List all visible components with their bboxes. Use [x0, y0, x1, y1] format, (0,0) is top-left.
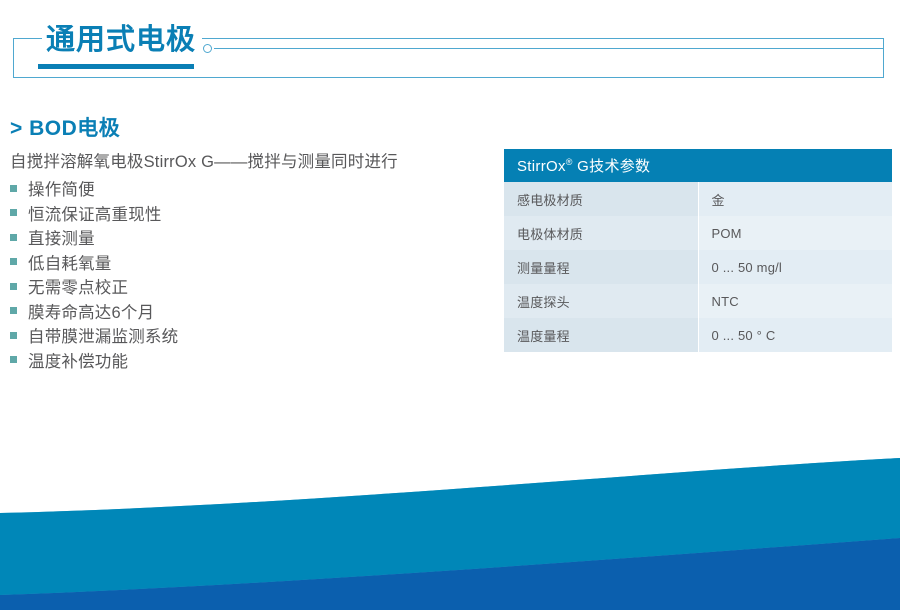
- circle-node-icon: [203, 44, 212, 53]
- table-header-row: StirrOx® G技术参数: [504, 149, 892, 182]
- wave-decoration: [0, 410, 900, 610]
- list-item: 直接测量: [10, 225, 178, 250]
- table-row: 温度量程 0 ... 50 ° C: [504, 318, 892, 352]
- table-cell-key: 测量量程: [504, 250, 698, 284]
- table-cell-value: 0 ... 50 ° C: [698, 318, 892, 352]
- square-bullet-icon: [10, 283, 17, 290]
- list-item-label: 恒流保证高重现性: [28, 201, 162, 225]
- table-row: 感电极材质 金: [504, 182, 892, 216]
- table-title-suffix: G技术参数: [573, 158, 651, 175]
- list-item: 低自耗氧量: [10, 250, 178, 275]
- table-row: 温度探头 NTC: [504, 284, 892, 318]
- list-item-label: 低自耗氧量: [28, 250, 112, 274]
- section-lede: 自搅拌溶解氧电极StirrOx G——搅拌与测量同时进行: [10, 148, 398, 172]
- page-header: 通用式电极: [0, 0, 900, 105]
- list-item: 无需零点校正: [10, 274, 178, 299]
- square-bullet-icon: [10, 332, 17, 339]
- spec-table: StirrOx® G技术参数 感电极材质 金 电极体材质 POM 测量量程 0 …: [504, 149, 892, 352]
- square-bullet-icon: [10, 258, 17, 265]
- list-item-label: 操作简便: [28, 176, 95, 200]
- list-item-label: 自带膜泄漏监测系统: [28, 323, 178, 347]
- table-cell-value: NTC: [698, 284, 892, 318]
- square-bullet-icon: [10, 185, 17, 192]
- table-cell-key: 感电极材质: [504, 182, 698, 216]
- section-heading: > BOD电极: [10, 112, 120, 142]
- registered-trademark-icon: ®: [566, 157, 573, 167]
- table-cell-key: 电极体材质: [504, 216, 698, 250]
- list-item: 膜寿命高达6个月: [10, 299, 178, 324]
- square-bullet-icon: [10, 234, 17, 241]
- list-item-label: 膜寿命高达6个月: [28, 299, 154, 323]
- list-item: 操作简便: [10, 176, 178, 201]
- list-item: 温度补偿功能: [10, 348, 178, 373]
- table-cell-value: 金: [698, 182, 892, 216]
- feature-list: 操作简便 恒流保证高重现性 直接测量 低自耗氧量 无需零点校正 膜寿命高达6个月…: [10, 176, 178, 372]
- square-bullet-icon: [10, 356, 17, 363]
- list-item-label: 温度补偿功能: [28, 348, 128, 372]
- table-cell-value: 0 ... 50 mg/l: [698, 250, 892, 284]
- list-item: 自带膜泄漏监测系统: [10, 323, 178, 348]
- title-underline-bar: [38, 64, 194, 69]
- table-row: 电极体材质 POM: [504, 216, 892, 250]
- horizontal-rule-icon: [214, 48, 884, 50]
- page-title: 通用式电极: [42, 26, 202, 55]
- table-row: 测量量程 0 ... 50 mg/l: [504, 250, 892, 284]
- table-cell-key: 温度量程: [504, 318, 698, 352]
- table-title-prefix: StirrOx: [517, 158, 566, 175]
- list-item: 恒流保证高重现性: [10, 201, 178, 226]
- table-title: StirrOx® G技术参数: [504, 149, 892, 182]
- square-bullet-icon: [10, 209, 17, 216]
- table-cell-value: POM: [698, 216, 892, 250]
- section-heading-label: BOD电极: [29, 117, 120, 140]
- table-cell-key: 温度探头: [504, 284, 698, 318]
- square-bullet-icon: [10, 307, 17, 314]
- list-item-label: 直接测量: [28, 225, 95, 249]
- list-item-label: 无需零点校正: [28, 274, 128, 298]
- chevron-right-icon: >: [10, 117, 23, 140]
